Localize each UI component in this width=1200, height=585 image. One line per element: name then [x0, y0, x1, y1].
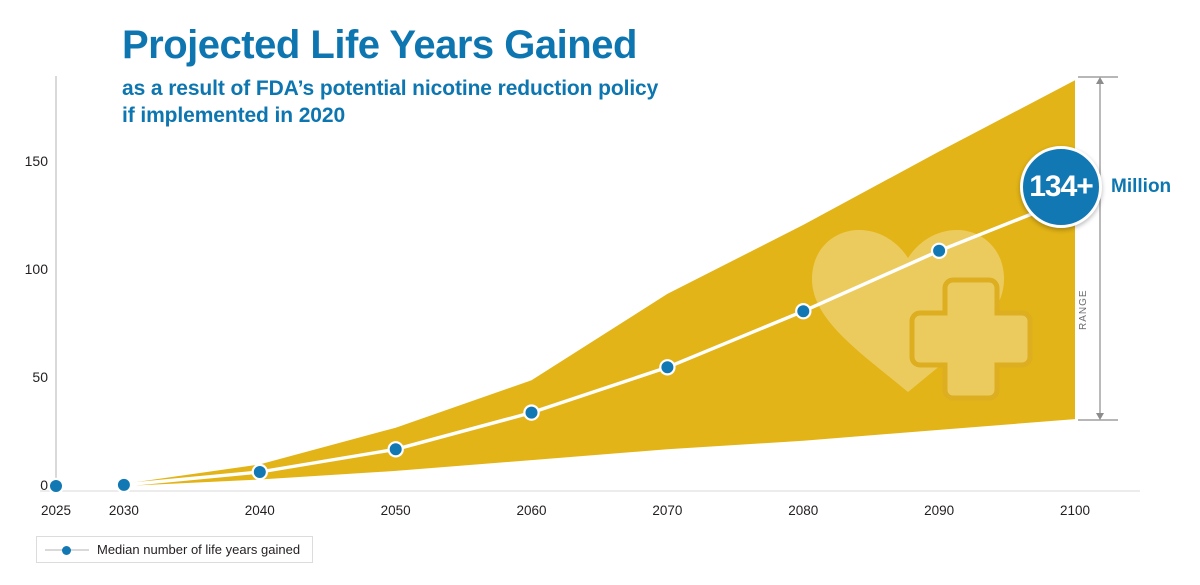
data-point-marker[interactable] [933, 245, 945, 257]
chart-legend[interactable]: Median number of life years gained [36, 536, 313, 563]
legend-item-label: Median number of life years gained [97, 542, 300, 557]
x-axis-tick-label: 2070 [637, 503, 697, 518]
x-axis-tick-label: 2030 [94, 503, 154, 518]
callout-value: 134+ [1029, 172, 1093, 202]
x-axis-tick-label: 2090 [909, 503, 969, 518]
y-axis-tick-label: 100 [6, 261, 48, 277]
data-point-marker[interactable] [797, 305, 809, 317]
x-axis-tick-label: 2080 [773, 503, 833, 518]
infographic-root: Projected Life Years Gained as a result … [0, 0, 1200, 585]
x-axis-tick-label: 2060 [502, 503, 562, 518]
legend-marker-icon [45, 544, 89, 556]
data-point-marker[interactable] [50, 480, 62, 492]
x-axis-tick-label: 2050 [366, 503, 426, 518]
range-arrow-head-top [1096, 77, 1104, 84]
data-point-marker[interactable] [390, 443, 402, 455]
range-annotation [1078, 77, 1118, 420]
chart-svg [0, 0, 1200, 585]
y-axis-tick-label: 0 [6, 477, 48, 493]
x-axis-tick-label: 2025 [26, 503, 86, 518]
data-point-marker[interactable] [254, 466, 266, 478]
legend-dot-icon [62, 546, 71, 555]
callout-badge[interactable]: 134+ Million [1020, 146, 1171, 228]
data-point-marker[interactable] [118, 479, 130, 491]
chart-plot-area: 050100150 202520302040205020602070208020… [0, 0, 1200, 585]
data-point-marker[interactable] [661, 361, 673, 373]
y-axis-tick-label: 50 [6, 369, 48, 385]
range-arrow-head-bottom [1096, 413, 1104, 420]
data-point-marker[interactable] [526, 407, 538, 419]
callout-unit: Million [1111, 176, 1171, 198]
x-axis-tick-label: 2100 [1045, 503, 1105, 518]
y-axis-tick-label: 150 [6, 153, 48, 169]
range-label: RANGE [1078, 289, 1089, 330]
callout-circle: 134+ [1020, 146, 1102, 228]
x-axis-tick-label: 2040 [230, 503, 290, 518]
